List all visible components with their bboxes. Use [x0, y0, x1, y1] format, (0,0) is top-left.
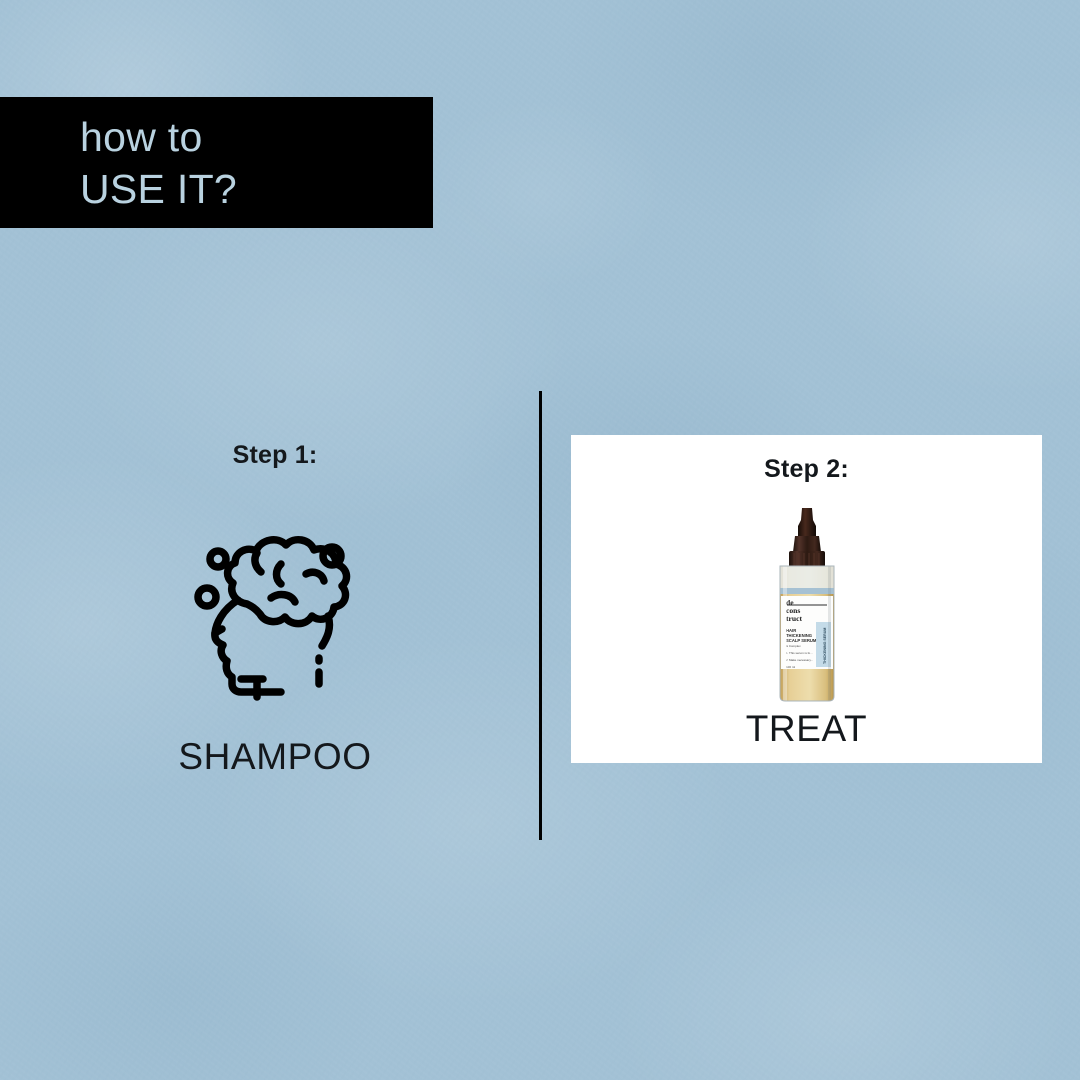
svg-text:100 ml: 100 ml — [786, 665, 795, 669]
step-two-caption: TREAT — [746, 708, 868, 750]
head-with-shampoo-lather-icon — [175, 512, 375, 717]
step-one-block: Step 1: — [100, 441, 450, 778]
step-two-visual: de cons truct HAIR THICKENING SCALP SERU… — [747, 506, 867, 706]
poster-canvas: how to USE IT? Step 1: — [0, 0, 1080, 1080]
step-two-title: Step 2: — [764, 455, 849, 484]
header-banner: how to USE IT? — [0, 97, 433, 228]
svg-text:Make necessary...: Make necessary... — [789, 658, 813, 662]
step-one-caption: SHAMPOO — [178, 736, 371, 778]
svg-text:This serum is fo...: This serum is fo... — [789, 651, 813, 655]
svg-text:THICKENING SERUM: THICKENING SERUM — [823, 627, 827, 663]
step-one-visual — [175, 514, 375, 714]
serum-bottle-product-image: de cons truct HAIR THICKENING SCALP SERU… — [747, 504, 867, 709]
svg-text:& Complex: & Complex — [786, 644, 801, 648]
svg-text:SCALP SERUM: SCALP SERUM — [786, 638, 817, 643]
svg-text:truct: truct — [786, 614, 802, 623]
vertical-divider — [539, 391, 542, 840]
step-two-card: Step 2: — [571, 435, 1042, 763]
header-title-line-2: USE IT? — [80, 163, 433, 215]
step-one-title: Step 1: — [233, 441, 318, 470]
header-title-line-1: how to — [80, 111, 433, 163]
